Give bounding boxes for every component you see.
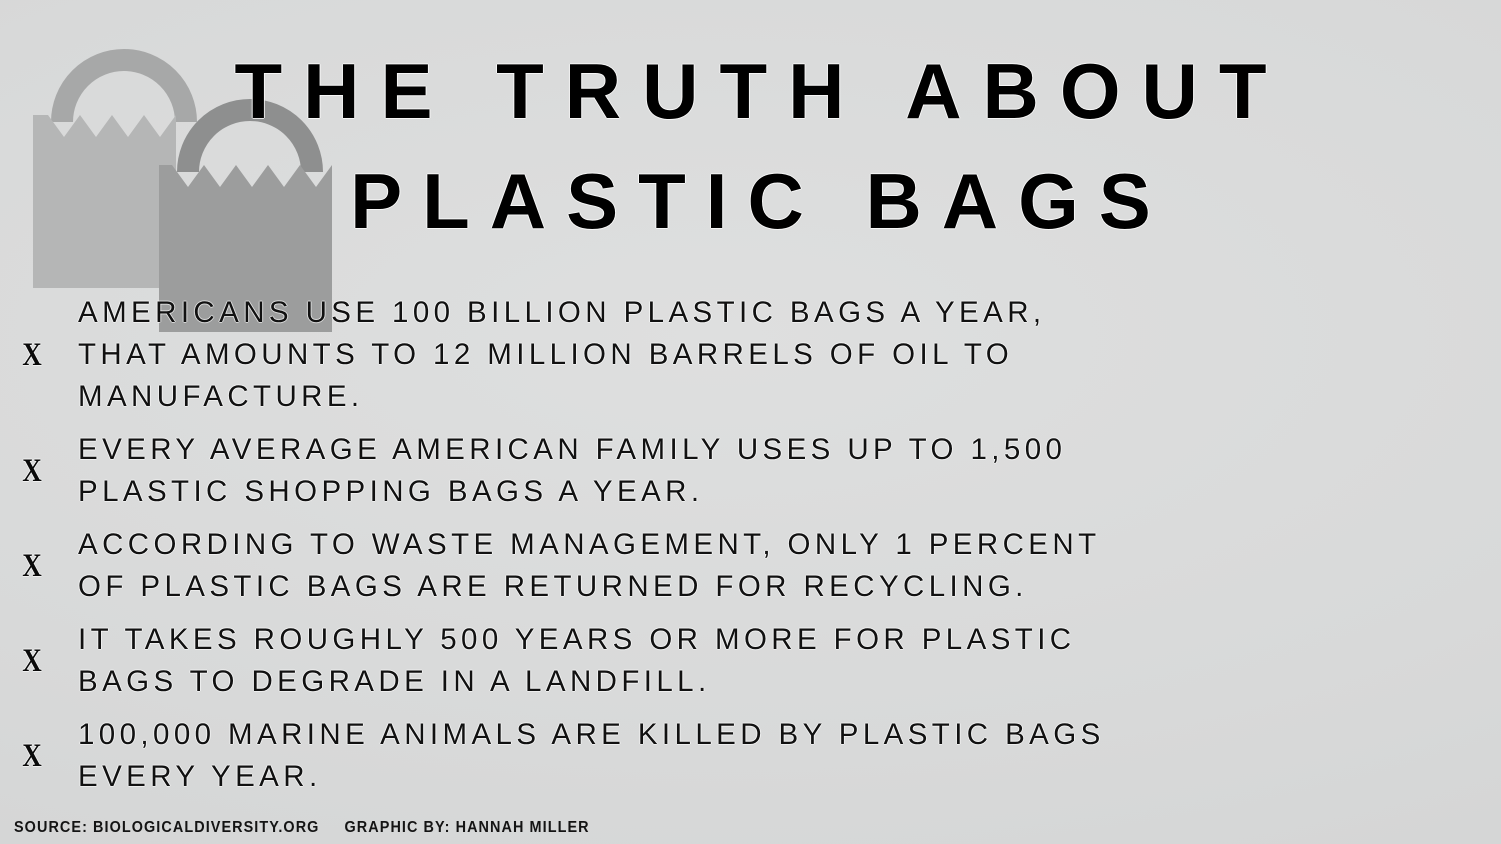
fact-line: BAGS TO DEGRADE IN A LANDFILL. bbox=[78, 661, 1501, 703]
fact-line: PLASTIC SHOPPING BAGS A YEAR. bbox=[78, 471, 1501, 513]
infographic-poster: THE TRUTH ABOUT PLASTIC BAGS X AMERICANS… bbox=[0, 0, 1501, 844]
x-bullet-icon: X bbox=[14, 339, 66, 372]
poster-title: THE TRUTH ABOUT PLASTIC BAGS bbox=[0, 36, 1501, 256]
facts-list: X AMERICANS USE 100 BILLION PLASTIC BAGS… bbox=[0, 292, 1501, 809]
fact-text: IT TAKES ROUGHLY 500 YEARS OR MORE FOR P… bbox=[78, 619, 1501, 703]
credit-line: SOURCE: BIOLOGICALDIVERSITY.ORG GRAPHIC … bbox=[14, 818, 590, 838]
fact-line: EVERY AVERAGE AMERICAN FAMILY USES UP TO… bbox=[78, 429, 1501, 471]
fact-line: ACCORDING TO WASTE MANAGEMENT, ONLY 1 PE… bbox=[78, 524, 1501, 566]
fact-line: OF PLASTIC BAGS ARE RETURNED FOR RECYCLI… bbox=[78, 566, 1501, 608]
fact-item: X 100,000 MARINE ANIMALS ARE KILLED BY P… bbox=[0, 714, 1501, 798]
x-bullet-icon: X bbox=[14, 455, 66, 488]
fact-item: X ACCORDING TO WASTE MANAGEMENT, ONLY 1 … bbox=[0, 524, 1501, 608]
fact-text: 100,000 MARINE ANIMALS ARE KILLED BY PLA… bbox=[78, 714, 1501, 798]
fact-line: THAT AMOUNTS TO 12 MILLION BARRELS OF OI… bbox=[78, 334, 1501, 376]
fact-item: X AMERICANS USE 100 BILLION PLASTIC BAGS… bbox=[0, 292, 1501, 418]
title-line-2: PLASTIC BAGS bbox=[0, 146, 1501, 256]
fact-text: EVERY AVERAGE AMERICAN FAMILY USES UP TO… bbox=[78, 429, 1501, 513]
fact-item: X EVERY AVERAGE AMERICAN FAMILY USES UP … bbox=[0, 429, 1501, 513]
title-line-1: THE TRUTH ABOUT bbox=[0, 36, 1501, 146]
x-bullet-icon: X bbox=[14, 550, 66, 583]
x-bullet-icon: X bbox=[14, 645, 66, 678]
fact-line: EVERY YEAR. bbox=[78, 756, 1501, 798]
fact-line: MANUFACTURE. bbox=[78, 376, 1501, 418]
fact-line: AMERICANS USE 100 BILLION PLASTIC BAGS A… bbox=[78, 292, 1501, 334]
fact-text: ACCORDING TO WASTE MANAGEMENT, ONLY 1 PE… bbox=[78, 524, 1501, 608]
x-bullet-icon: X bbox=[14, 740, 66, 773]
graphic-credit: GRAPHIC BY: HANNAH MILLER bbox=[345, 819, 590, 836]
fact-text: AMERICANS USE 100 BILLION PLASTIC BAGS A… bbox=[78, 292, 1501, 418]
fact-line: IT TAKES ROUGHLY 500 YEARS OR MORE FOR P… bbox=[78, 619, 1501, 661]
source-credit: SOURCE: BIOLOGICALDIVERSITY.ORG bbox=[14, 819, 319, 836]
fact-line: 100,000 MARINE ANIMALS ARE KILLED BY PLA… bbox=[78, 714, 1501, 756]
fact-item: X IT TAKES ROUGHLY 500 YEARS OR MORE FOR… bbox=[0, 619, 1501, 703]
